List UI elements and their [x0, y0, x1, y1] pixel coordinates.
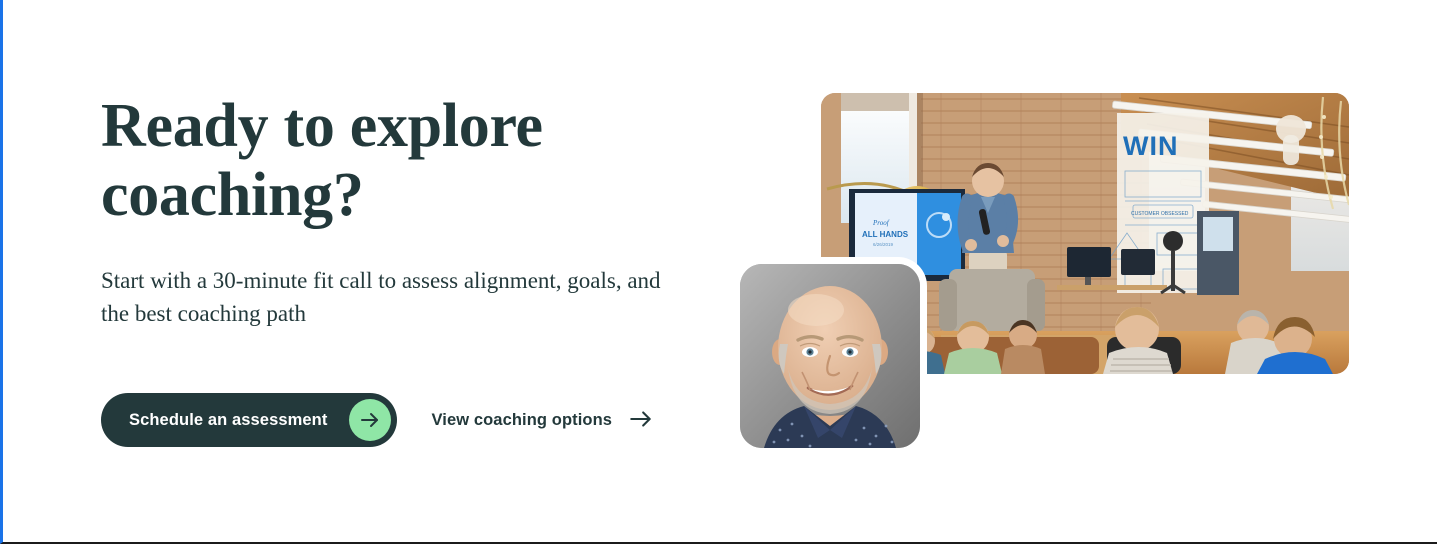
svg-text:ALL HANDS: ALL HANDS — [862, 230, 909, 239]
svg-text:Proof: Proof — [872, 219, 890, 227]
primary-button-label: Schedule an assessment — [129, 411, 327, 430]
svg-text:CUSTOMER OBSESSED: CUSTOMER OBSESSED — [1131, 211, 1189, 217]
svg-text:WIN: WIN — [1123, 131, 1178, 161]
svg-text:6/26/2019: 6/26/2019 — [873, 242, 894, 247]
view-coaching-options-link[interactable]: View coaching options — [431, 406, 654, 435]
media-composition: WIN CUSTOMER OBSESSED — [740, 93, 1360, 453]
arrow-right-icon — [349, 399, 391, 441]
hero-section: Ready to explore coaching? Start with a … — [0, 0, 1437, 544]
hero-copy: Ready to explore coaching? Start with a … — [101, 92, 721, 330]
page-title: Ready to explore coaching? — [101, 92, 721, 231]
cta-row: Schedule an assessment View coaching opt… — [101, 393, 654, 447]
schedule-an-assessment-button[interactable]: Schedule an assessment — [101, 393, 397, 447]
hero-subcopy: Start with a 30-minute fit call to asses… — [101, 265, 661, 330]
arrow-right-icon — [628, 406, 654, 435]
coach-headshot — [740, 264, 920, 448]
secondary-button-label: View coaching options — [431, 411, 612, 430]
